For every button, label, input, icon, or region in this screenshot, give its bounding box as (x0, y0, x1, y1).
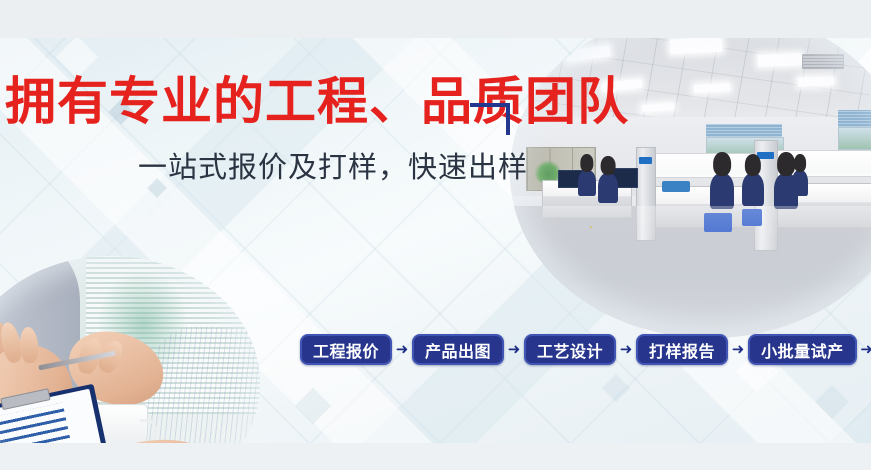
process-step-5[interactable]: 小批量试产 (748, 334, 857, 365)
meeting-photo (0, 256, 260, 443)
decorative-diamond (815, 385, 849, 419)
headline-block: 拥有专业的工程、品质团队 一站式报价及打样，快速出样 (0, 75, 520, 186)
arrow-right-icon: ➜ (728, 334, 748, 365)
process-steps: 工程报价 ➜ 产品出图 ➜ 工艺设计 ➜ 打样报告 ➜ 小批量试产 ➜ 批量量产 (300, 334, 871, 365)
process-step-2[interactable]: 产品出图 (412, 334, 504, 365)
arrow-right-icon: ➜ (857, 334, 871, 365)
bottom-spacer-band (0, 443, 871, 470)
arrow-right-icon: ➜ (392, 334, 412, 365)
process-step-1[interactable]: 工程报价 (300, 334, 392, 365)
process-step-3[interactable]: 工艺设计 (524, 334, 616, 365)
corner-bracket-decoration (470, 103, 510, 135)
arrow-right-icon: ➜ (616, 334, 636, 365)
page-subtitle: 一站式报价及打样，快速出样 (0, 144, 520, 186)
arrow-right-icon: ➜ (504, 334, 524, 365)
decorative-diamond (295, 388, 332, 425)
top-spacer-band (0, 0, 871, 38)
process-step-4[interactable]: 打样报告 (636, 334, 728, 365)
decorative-diamond (602, 374, 630, 402)
promotional-banner: 拥有专业的工程、品质团队 一站式报价及打样，快速出样 工程报价 ➜ 产品出图 ➜… (0, 0, 871, 470)
page-title: 拥有专业的工程、品质团队 (0, 75, 520, 130)
